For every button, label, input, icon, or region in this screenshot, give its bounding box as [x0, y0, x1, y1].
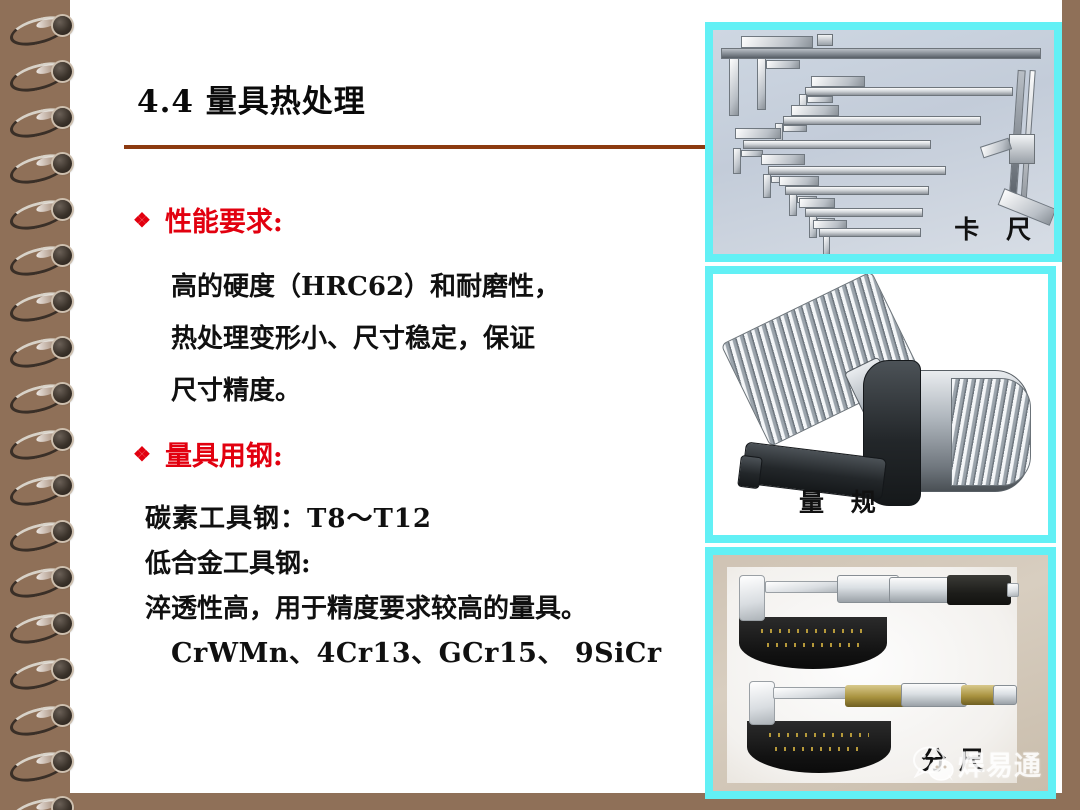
text-column: 4.4 量具热处理 ❖ 性能要求: 高的硬度（HRC62）和耐磨性， 热处理变形… — [97, 0, 737, 793]
slide-canvas: 4.4 量具热处理 ❖ 性能要求: 高的硬度（HRC62）和耐磨性， 热处理变形… — [0, 0, 1080, 810]
title-divider — [124, 145, 732, 149]
binding-coil — [10, 60, 72, 90]
binding-coil — [10, 566, 72, 596]
section-heading-label: 性能要求: — [165, 200, 283, 239]
binding-coil — [10, 520, 72, 550]
section-heading-label: 量具用钢: — [165, 434, 283, 473]
slide-page: 4.4 量具热处理 ❖ 性能要求: 高的硬度（HRC62）和耐磨性， 热处理变形… — [70, 0, 1062, 793]
binding-coil — [10, 198, 72, 228]
section-heading-steel-grades: ❖ 量具用钢: — [133, 434, 283, 473]
photo-column: 卡 尺 量 规 — [705, 22, 1062, 799]
performance-line-2: 热处理变形小、尺寸稳定，保证 — [171, 318, 535, 355]
watermark-text: 焊易通 — [958, 744, 1042, 783]
binding-coil — [10, 14, 72, 44]
steel-line-carbon-tool: 碳素工具钢：T8～T12 — [145, 498, 432, 535]
steel-line-low-alloy: 低合金工具钢: — [145, 543, 311, 580]
photo-vernier-calipers: 卡 尺 — [705, 22, 1062, 262]
wechat-icon — [912, 745, 956, 783]
photo-micrometers: 分 尺 — [705, 547, 1056, 799]
binding-coil — [10, 106, 72, 136]
binding-coil — [10, 750, 72, 780]
photo-plug-thread-gauge: 量 规 — [705, 266, 1056, 543]
binding-coil — [10, 382, 72, 412]
steel-line-grades: CrWMn、4Cr13、GCr15、 9SiCr — [171, 631, 662, 670]
photo-label-calipers: 卡 尺 — [954, 210, 1040, 246]
binding-coil — [10, 244, 72, 274]
binding-coil — [10, 428, 72, 458]
page-title: 4.4 量具热处理 — [137, 76, 366, 121]
binding-coil — [10, 658, 72, 688]
diamond-bullet-icon: ❖ — [133, 210, 151, 230]
binding-coil — [10, 612, 72, 642]
performance-line-1: 高的硬度（HRC62）和耐磨性， — [171, 266, 560, 303]
steel-line-hardenability: 淬透性高，用于精度要求较高的量具。 — [145, 588, 587, 625]
spiral-binding — [0, 0, 70, 810]
binding-coil — [10, 796, 72, 810]
binding-coil — [10, 152, 72, 182]
binding-coil — [10, 704, 72, 734]
binding-coil — [10, 290, 72, 320]
watermark: 焊易通 — [912, 744, 1042, 783]
section-heading-performance: ❖ 性能要求: — [133, 200, 283, 239]
photo-label-gauge: 量 规 — [799, 483, 885, 519]
diamond-bullet-icon: ❖ — [133, 444, 151, 464]
binding-coil — [10, 474, 72, 504]
binding-coil — [10, 336, 72, 366]
performance-line-3: 尺寸精度。 — [171, 370, 301, 407]
